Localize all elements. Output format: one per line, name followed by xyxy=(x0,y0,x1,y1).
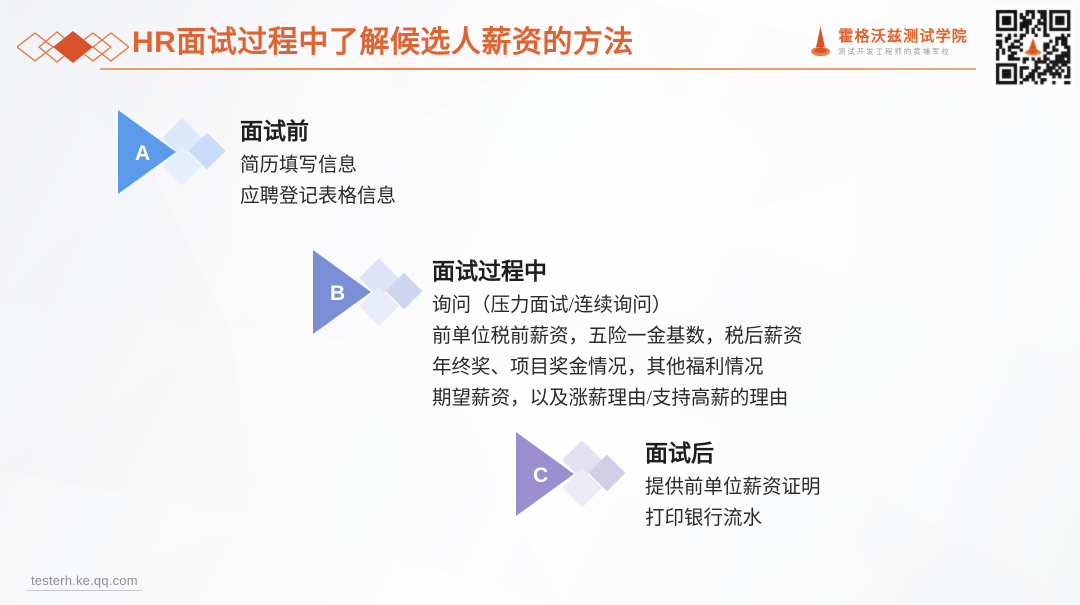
step-a-title: 面试前 xyxy=(240,114,396,148)
qr-code-icon[interactable] xyxy=(992,6,1074,88)
step-b-title: 面试过程中 xyxy=(432,254,803,288)
svg-text:C: C xyxy=(533,464,548,487)
slide-header: HR面试过程中了解候选人薪资的方法 霍格沃兹测试学院 测试开发工程师的黄埔军校 xyxy=(0,0,1080,92)
qr-code-canvas xyxy=(992,6,1074,88)
step-b-line-2: 前单位税前薪资，五险一金基数，税后薪资 xyxy=(432,321,803,352)
play-triangle-b-icon: B xyxy=(305,246,429,342)
svg-text:A: A xyxy=(135,142,150,165)
step-b-line-4: 期望薪资，以及涨薪理由/支持高薪的理由 xyxy=(432,383,803,414)
page-title: HR面试过程中了解候选人薪资的方法 xyxy=(132,22,634,64)
title-divider xyxy=(100,68,976,70)
slide-canvas: HR面试过程中了解候选人薪资的方法 霍格沃兹测试学院 测试开发工程师的黄埔军校 xyxy=(0,0,1080,605)
step-b-text: 面试过程中 询问（压力面试/连续询问） 前单位税前薪资，五险一金基数，税后薪资 … xyxy=(432,254,803,414)
step-a-line-1: 简历填写信息 xyxy=(240,150,396,181)
step-b-line-1: 询问（压力面试/连续询问） xyxy=(432,290,803,321)
step-a-line-2: 应聘登记表格信息 xyxy=(240,181,396,212)
step-c-line-1: 提供前单位薪资证明 xyxy=(645,472,821,503)
svg-text:B: B xyxy=(330,282,345,305)
hogwarts-sorting-hat-icon xyxy=(810,25,831,59)
play-triangle-c-icon: C xyxy=(508,430,632,526)
step-b-line-3: 年终奖、项目奖金情况，其他福利情况 xyxy=(432,352,803,383)
step-a-text: 面试前 简历填写信息 应聘登记表格信息 xyxy=(240,114,396,212)
diamond-ornament-icon xyxy=(17,27,129,67)
brand-text-block: 霍格沃兹测试学院 测试开发工程师的黄埔军校 xyxy=(838,27,968,58)
footer-website-link[interactable]: testerh.ke.qq.com xyxy=(27,573,142,591)
brand-tagline: 测试开发工程师的黄埔军校 xyxy=(838,46,964,58)
brand-logo: 霍格沃兹测试学院 测试开发工程师的黄埔军校 xyxy=(810,20,968,64)
step-c-text: 面试后 提供前单位薪资证明 打印银行流水 xyxy=(645,436,821,534)
step-c-title: 面试后 xyxy=(645,436,821,470)
brand-name: 霍格沃兹测试学院 xyxy=(838,27,968,46)
step-c-line-2: 打印银行流水 xyxy=(645,503,821,534)
play-triangle-a-icon: A xyxy=(108,104,232,200)
